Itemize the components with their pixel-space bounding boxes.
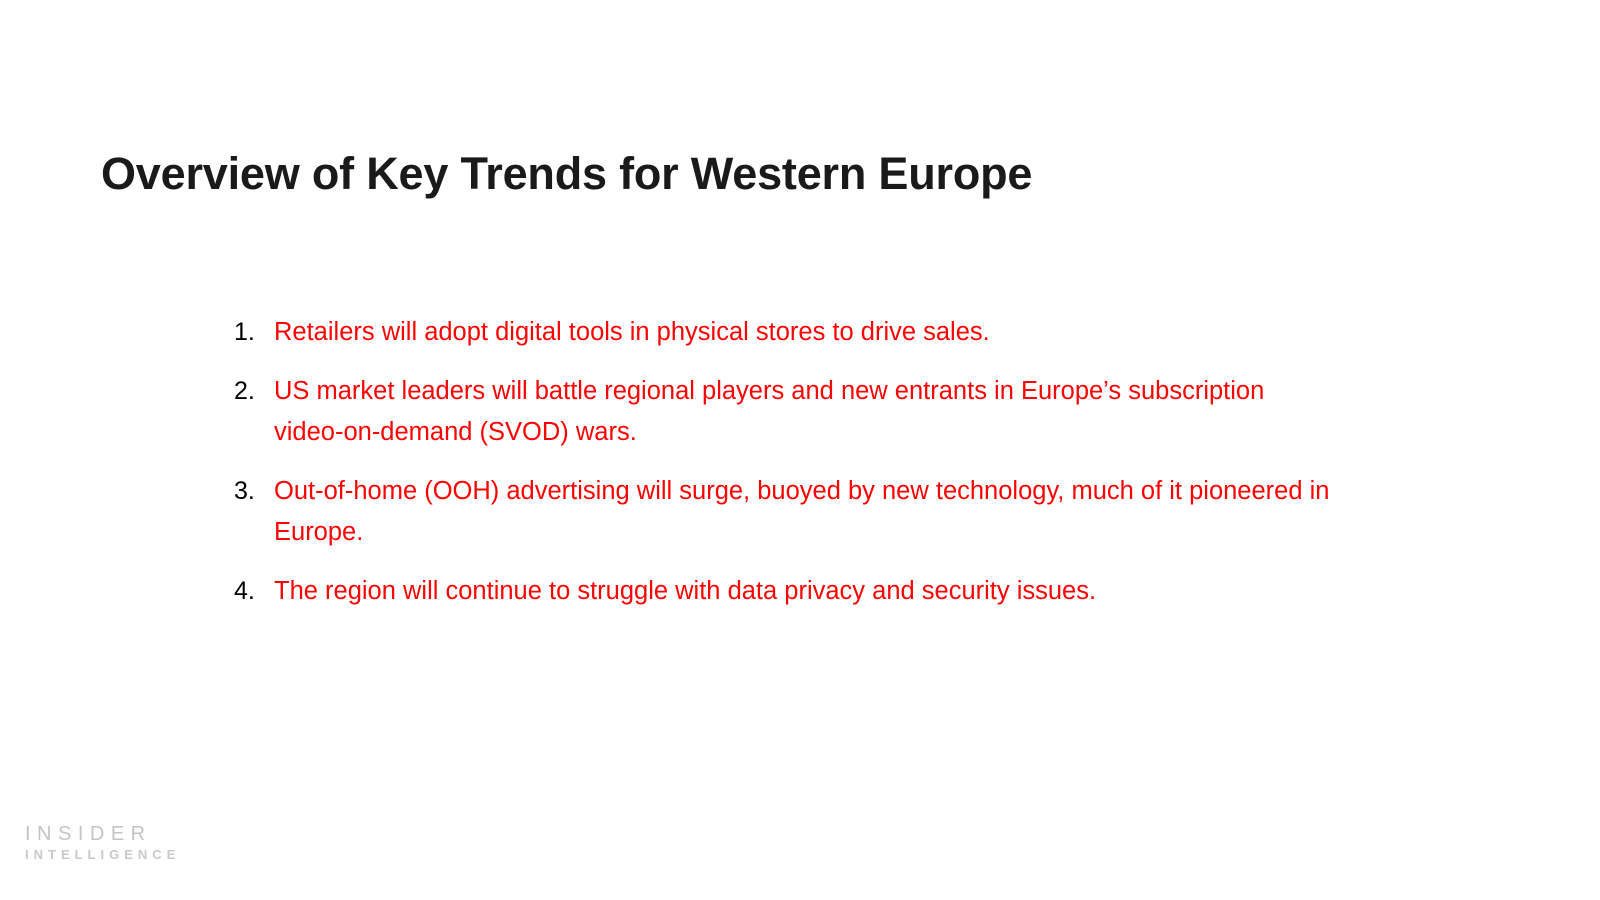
logo-wordmark-secondary: INTELLIGENCE	[25, 847, 225, 863]
list-item-text: Retailers will adopt digital tools in ph…	[274, 312, 1334, 353]
logo-wordmark-primary: INSIDER	[25, 823, 225, 845]
key-trends-list: 1. Retailers will adopt digital tools in…	[190, 312, 1430, 630]
list-item: 1. Retailers will adopt digital tools in…	[230, 312, 1430, 353]
list-item: 2. US market leaders will battle regiona…	[230, 371, 1430, 453]
list-item: 3. Out-of-home (OOH) advertising will su…	[230, 471, 1430, 553]
list-item-number: 2.	[230, 371, 274, 412]
page-title: Overview of Key Trends for Western Europ…	[101, 148, 1481, 200]
list-item: 4. The region will continue to struggle …	[230, 571, 1430, 612]
list-item-number: 3.	[230, 471, 274, 512]
slide-canvas: Overview of Key Trends for Western Europ…	[0, 0, 1600, 900]
insider-intelligence-logo: INSIDER INTELLIGENCE	[25, 823, 225, 863]
list-item-text: The region will continue to struggle wit…	[274, 571, 1334, 612]
list-item-text: US market leaders will battle regional p…	[274, 371, 1334, 453]
list-item-text: Out-of-home (OOH) advertising will surge…	[274, 471, 1334, 553]
list-item-number: 1.	[230, 312, 274, 353]
list-item-number: 4.	[230, 571, 274, 612]
